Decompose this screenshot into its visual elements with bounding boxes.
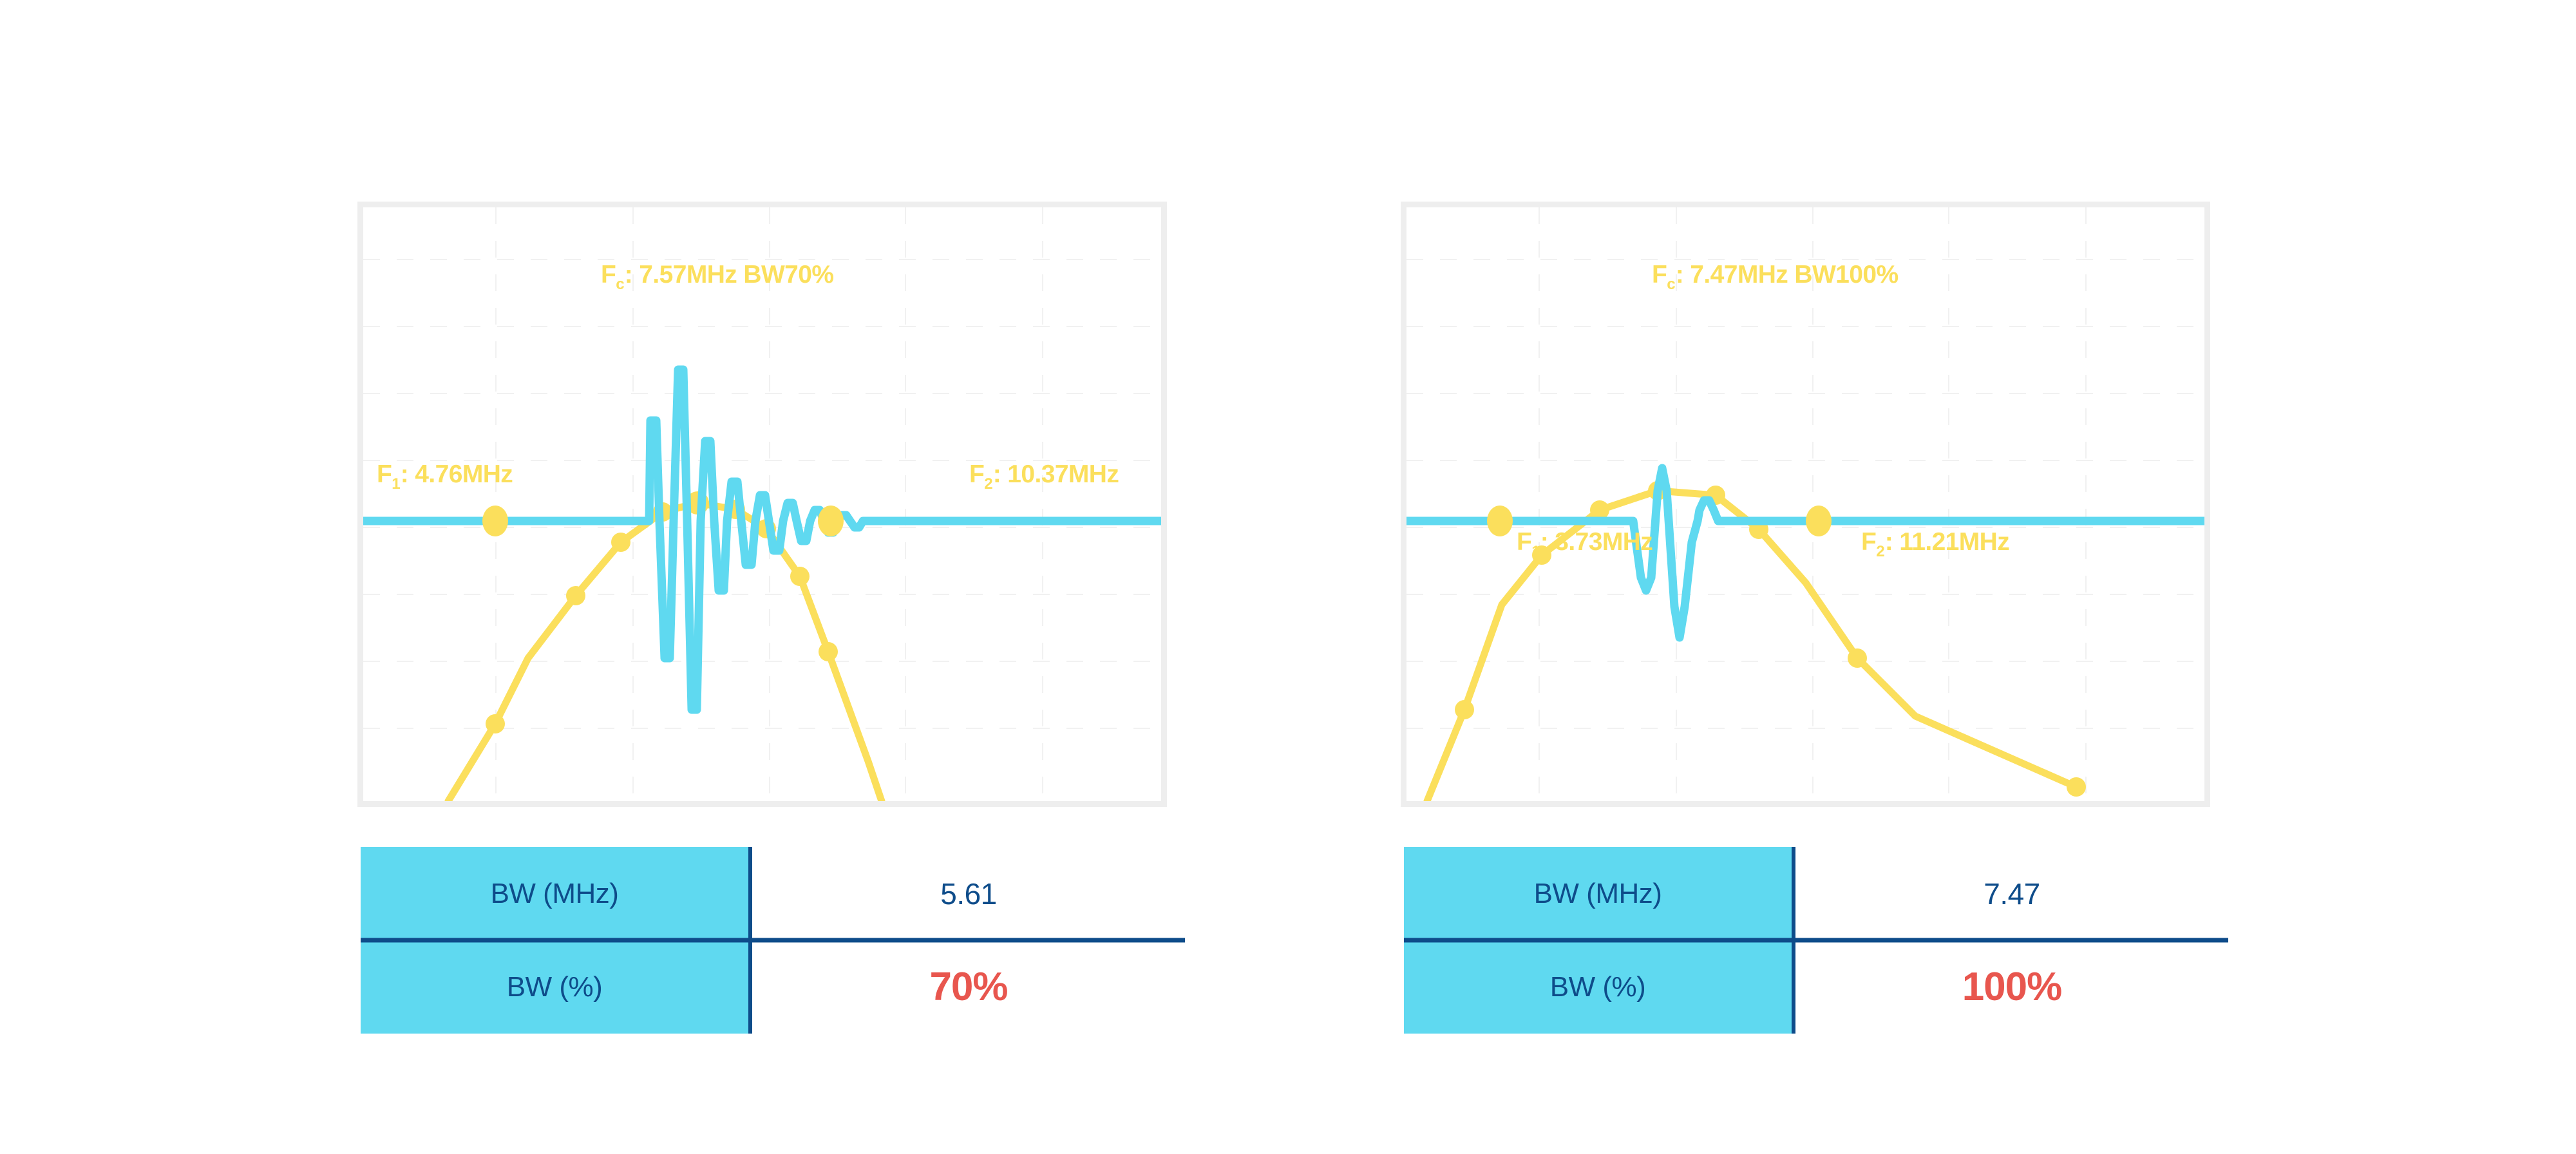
table-value-cell: 7.47: [1795, 847, 2228, 940]
bandwidth-table-right: BW (MHz) 7.47 BW (%) 100%: [1404, 847, 2228, 1034]
f1-frequency-label-right: F1: 3.73MHz: [1517, 528, 1653, 561]
f2-prefix: F: [969, 460, 984, 488]
f2-rest: : 10.37MHz: [993, 460, 1119, 488]
f2-frequency-label-right: F2: 11.21MHz: [1861, 528, 2009, 561]
f1-prefix: F: [377, 460, 392, 488]
center-frequency-label-left: Fc: 7.57MHz BW70%: [601, 261, 833, 294]
bw-percent-value: 100%: [1962, 964, 2062, 1010]
bw-percent-value: 70%: [929, 964, 1007, 1010]
center-frequency-label-right: Fc: 7.47MHz BW100%: [1652, 261, 1899, 294]
plot-area-left: [363, 207, 1161, 801]
gridlines-right: [1406, 207, 2204, 801]
table-header-cell: BW (MHz): [361, 847, 752, 940]
f1-subscript: 1: [1531, 543, 1540, 560]
table-mid-rule-left: [361, 938, 1185, 943]
f1-marker-right: [1487, 506, 1513, 536]
table-value-cell: 100%: [1795, 940, 2228, 1034]
table-row: BW (MHz) 5.61: [361, 847, 1185, 940]
f2-prefix: F: [1861, 528, 1876, 556]
fc-rest: : 7.57MHz BW70%: [625, 261, 834, 288]
f2-subscript: 2: [984, 475, 992, 493]
table-mid-rule-right: [1404, 938, 2228, 943]
fc-prefix: F: [1652, 261, 1667, 288]
table-value-cell: 5.61: [752, 847, 1185, 940]
f1-marker-left: [482, 506, 508, 536]
f1-prefix: F: [1517, 528, 1531, 556]
pulse-waveform-left: [363, 370, 1161, 710]
table-header-cell: BW (MHz): [1404, 847, 1795, 940]
plot-area-right: [1406, 207, 2204, 801]
table-value-cell: 70%: [752, 940, 1185, 1034]
plot-svg-left: [363, 207, 1161, 801]
f1-subscript: 1: [392, 475, 400, 493]
fc-subscript: c: [1667, 276, 1675, 293]
fc-rest: : 7.47MHz BW100%: [1676, 261, 1899, 288]
fc-prefix: F: [601, 261, 616, 288]
table-header-cell: BW (%): [1404, 940, 1795, 1034]
table-header-cell: BW (%): [361, 940, 752, 1034]
f1-frequency-label-left: F1: 4.76MHz: [377, 460, 513, 493]
f2-rest: : 11.21MHz: [1885, 528, 2009, 556]
fc-subscript: c: [616, 276, 624, 293]
table-row: BW (%) 70%: [361, 940, 1185, 1034]
bw-mhz-value: 5.61: [940, 876, 997, 911]
f2-marker-right: [1806, 506, 1832, 536]
table-row: BW (MHz) 7.47: [1404, 847, 2228, 940]
f1-rest: : 3.73MHz: [1540, 528, 1653, 556]
f2-marker-left: [818, 506, 844, 536]
f2-subscript: 2: [1876, 543, 1884, 560]
bw-mhz-value: 7.47: [1984, 876, 2040, 911]
f2-frequency-label-left: F2: 10.37MHz: [969, 460, 1119, 493]
plot-svg-right: [1406, 207, 2204, 801]
f1-rest: : 4.76MHz: [401, 460, 513, 488]
figure-canvas: Fc: 7.57MHz BW70% F1: 4.76MHz F2: 10.37M…: [0, 0, 2576, 1154]
table-row: BW (%) 100%: [1404, 940, 2228, 1034]
bandwidth-table-left: BW (MHz) 5.61 BW (%) 70%: [361, 847, 1185, 1034]
